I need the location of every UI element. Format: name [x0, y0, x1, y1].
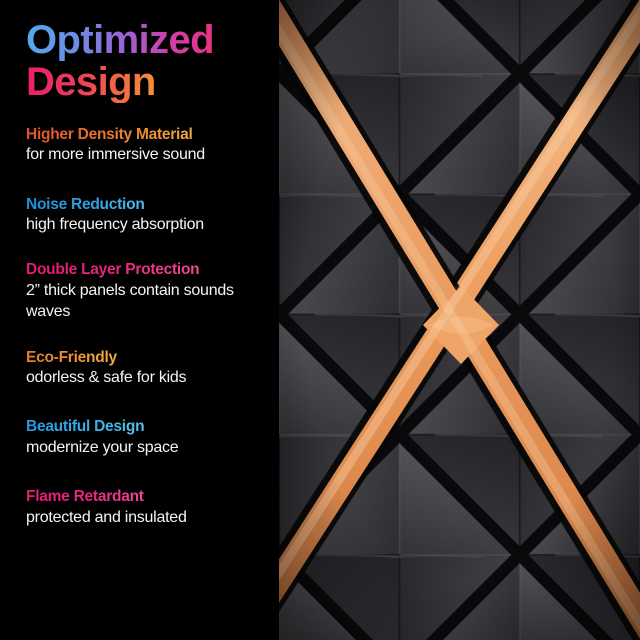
feature-title: Beautiful Design [26, 417, 144, 437]
feature-title: Double Layer Protection [26, 260, 199, 280]
feature-item-higher-density-material: Higher Density Material for more immersi… [26, 125, 279, 166]
feature-item-double-layer-protection: Double Layer Protection 2” thick panels … [26, 260, 279, 322]
feature-description: odorless & safe for kids [26, 367, 279, 388]
feature-description: 2” thick panels contain sounds waves [26, 280, 279, 322]
info-panel: Optimized Design Higher Density Material… [0, 0, 279, 640]
feature-title: Higher Density Material [26, 125, 193, 145]
feature-list: Higher Density Material for more immersi… [26, 125, 279, 529]
feature-description: modernize your space [26, 437, 279, 458]
feature-item-eco-friendly: Eco-Friendly odorless & safe for kids [26, 348, 279, 389]
feature-item-flame-retardant: Flame Retardant protected and insulated [26, 487, 279, 528]
feature-description: protected and insulated [26, 507, 279, 528]
feature-title: Eco-Friendly [26, 348, 117, 368]
feature-title: Flame Retardant [26, 487, 144, 507]
photo-vignette [279, 0, 640, 640]
headline-line-2: Design [26, 62, 156, 103]
feature-description: high frequency absorption [26, 214, 279, 235]
feature-item-noise-reduction: Noise Reduction high frequency absorptio… [26, 195, 279, 236]
feature-item-beautiful-design: Beautiful Design modernize your space [26, 417, 279, 458]
headline-line-1: Optimized [26, 20, 214, 61]
acoustic-foam-illustration [279, 0, 640, 640]
feature-description: for more immersive sound [26, 144, 279, 165]
feature-title: Noise Reduction [26, 195, 145, 215]
promo-infographic: Optimized Design Higher Density Material… [0, 0, 640, 640]
product-photo-acoustic-foam-panels [279, 0, 640, 640]
page-title: Optimized Design [26, 20, 279, 103]
